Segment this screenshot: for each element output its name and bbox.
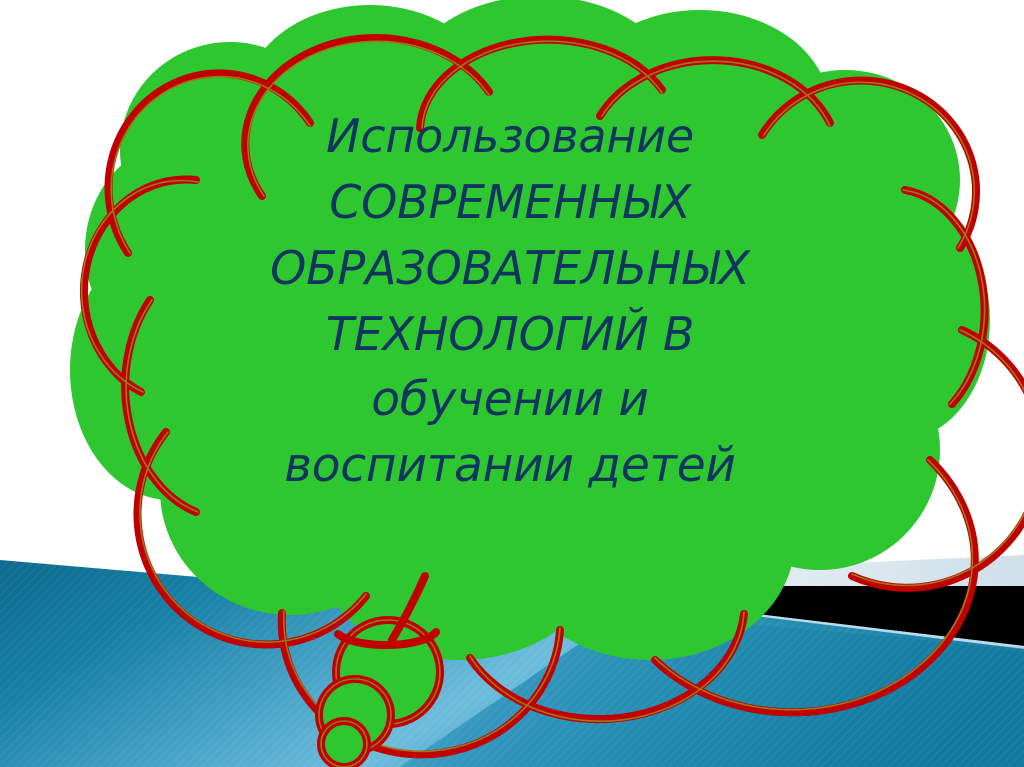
title-line-2: СОВРЕМЕННЫХ xyxy=(178,169,842,235)
page-title: Использование СОВРЕМЕННЫХ ОБРАЗОВАТЕЛЬНЫ… xyxy=(178,103,842,499)
title-line-3: ОБРАЗОВАТЕЛЬНЫХ xyxy=(178,235,842,301)
title-line-4: ТЕХНОЛОГИЙ В xyxy=(178,301,842,367)
slide-canvas: Использование СОВРЕМЕННЫХ ОБРАЗОВАТЕЛЬНЫ… xyxy=(0,0,1024,767)
title-line-1: Использование xyxy=(178,103,842,169)
title-line-6: воспитании детей xyxy=(178,433,842,499)
title-line-5: обучении и xyxy=(178,367,842,433)
